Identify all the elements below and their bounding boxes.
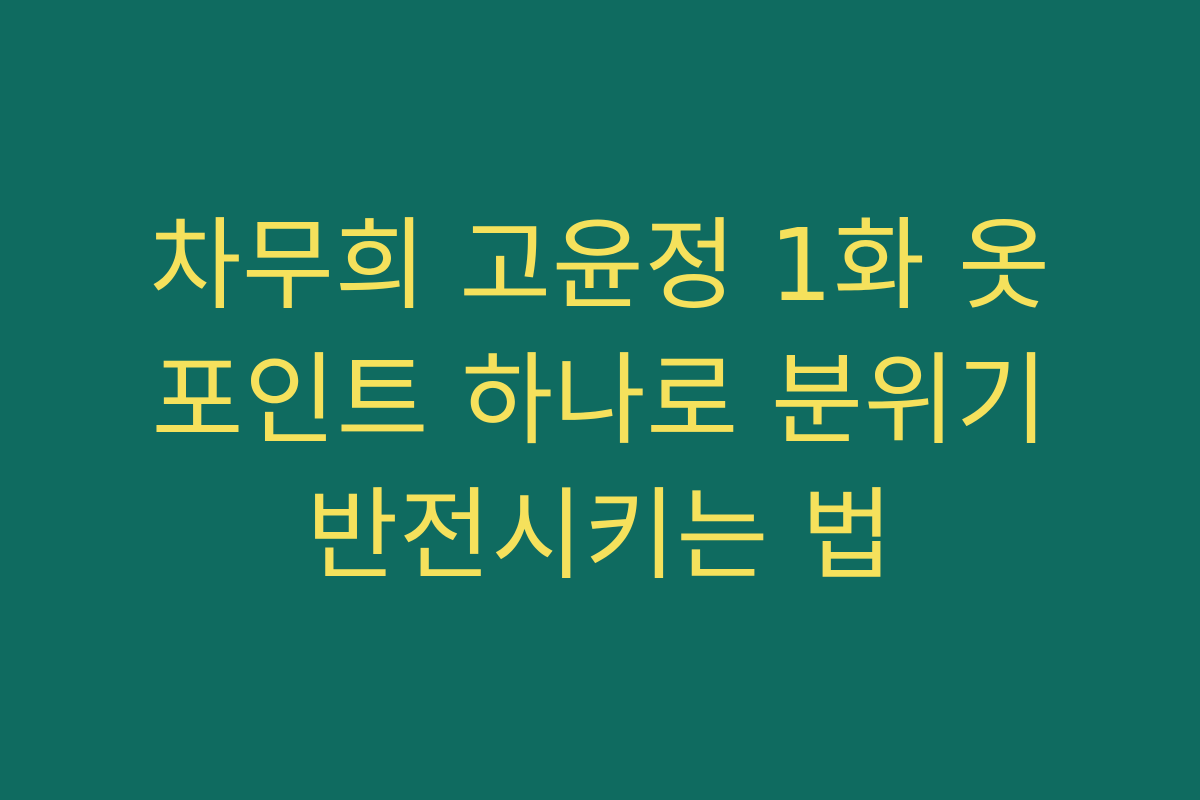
thumbnail-card: 차무희 고윤정 1화 옷 포인트 하나로 분위기 반전시키는 법 — [0, 0, 1200, 800]
headline-block: 차무희 고윤정 1화 옷 포인트 하나로 분위기 반전시키는 법 — [0, 198, 1200, 603]
headline-line-3: 반전시키는 법 — [306, 468, 893, 603]
headline-line-1: 차무희 고윤정 1화 옷 — [150, 198, 1051, 333]
headline-line-2: 포인트 하나로 분위기 — [151, 333, 1048, 468]
